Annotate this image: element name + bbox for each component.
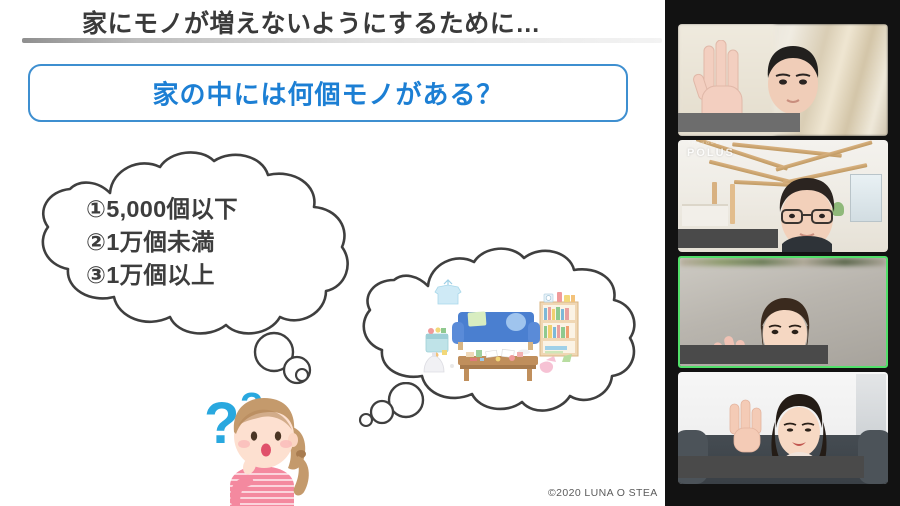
participant-face-0 [762, 42, 824, 118]
participant-name-bar-2 [680, 345, 828, 364]
bookshelf-icon [540, 292, 578, 356]
option-item-3: ③1万個以上 [86, 259, 346, 292]
video-tile-0[interactable] [678, 24, 888, 136]
toy-box-icon [426, 327, 448, 357]
thought-cloud-room-trail [358, 382, 428, 434]
video-tile-2-top-strip [680, 258, 886, 266]
raised-hand-icon [726, 398, 766, 454]
room-illustration [414, 276, 594, 386]
cabinet [856, 374, 886, 436]
slide-header: 家にモノが増えないようにするために… [0, 0, 665, 46]
participant-face-1 [774, 174, 840, 252]
option-item-1: ①5,000個以下 [86, 193, 346, 226]
question-box-text: 家の中には何個モノがある？ [30, 75, 626, 112]
video-panel: T H E H O U S E POLUS [665, 0, 900, 506]
participant-name-bar-3 [678, 456, 864, 478]
vertical-post [730, 184, 735, 224]
video-tile-3[interactable] [678, 372, 888, 484]
copyright-text: ©2020 LUNA O STEA [548, 487, 658, 499]
header-divider [22, 38, 662, 43]
question-box: 家の中には何個モノがある？ [28, 64, 628, 122]
slide-canvas: 家にモノが増えないようにするために… 家の中には何個モノがある？ ①5,000個… [0, 0, 665, 506]
thought-cloud-options-trail [252, 330, 322, 390]
floor-lamp-icon [424, 352, 444, 372]
page-title: 家にモノが増えないようにするために… [82, 4, 541, 40]
option-item-2: ②1万個未満 [86, 226, 346, 259]
sofa-icon [452, 311, 540, 354]
polus-watermark-sub: T H E H O U S E [688, 141, 723, 145]
participant-face-3 [770, 392, 828, 466]
hanging-shirt-icon [435, 280, 461, 304]
video-tile-1[interactable]: T H E H O U S E POLUS [678, 140, 888, 252]
participant-name-bar-0 [678, 113, 800, 132]
options-list: ①5,000個以下 ②1万個未満 ③1万個以上 [86, 193, 346, 292]
railing [682, 204, 728, 226]
video-tile-2-active-speaker[interactable] [678, 256, 888, 368]
window-frame [850, 174, 882, 222]
character-thinking-woman [198, 382, 328, 506]
polus-watermark: POLUS [687, 147, 735, 159]
participant-name-bar-1 [678, 229, 778, 248]
